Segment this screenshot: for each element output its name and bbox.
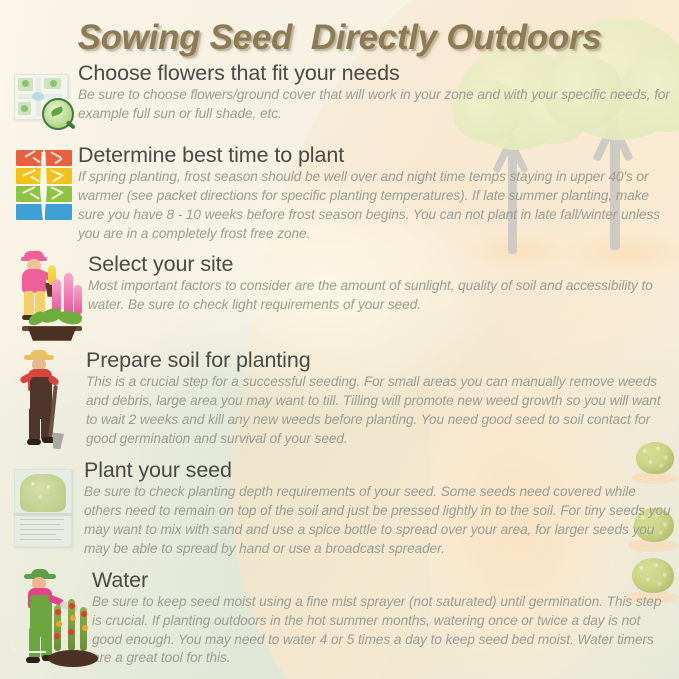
step-text: Prepare soil for planting This is a cruc… (86, 349, 671, 449)
step-text: Water Be sure to keep seed moist using a… (92, 569, 671, 669)
step-heading: Prepare soil for planting (86, 349, 671, 372)
step-text: Choose flowers that fit your needs Be su… (78, 62, 671, 124)
step-text: Determine best time to plant If spring p… (78, 144, 671, 244)
gardener-with-shovel-icon (10, 349, 84, 449)
step-item: Water Be sure to keep seed moist using a… (0, 569, 679, 669)
step-body: Most important factors to consider are t… (88, 277, 671, 315)
step-text: Select your site Most important factors … (88, 253, 671, 315)
step-heading: Choose flowers that fit your needs (78, 62, 671, 85)
step-text: Plant your seed Be sure to check plantin… (84, 459, 671, 559)
gardener-watering-icon (10, 569, 90, 669)
gardener-with-planter-icon (10, 249, 86, 341)
infographic-poster: Sowing Seed Directly Outdoors (0, 0, 679, 679)
step-heading: Determine best time to plant (78, 144, 671, 167)
step-body: Be sure to keep seed moist using a fine … (92, 593, 671, 669)
seed-packet-icon (10, 461, 82, 557)
step-item: Select your site Most important factors … (0, 253, 679, 341)
step-body: Be sure to choose flowers/ground cover t… (78, 86, 671, 124)
steps-list: Choose flowers that fit your needs Be su… (0, 62, 679, 669)
step-heading: Plant your seed (84, 459, 671, 482)
step-item: Determine best time to plant If spring p… (0, 144, 679, 244)
step-heading: Select your site (88, 253, 671, 276)
garden-plan-magnifier-icon (10, 68, 76, 134)
page-title: Sowing Seed Directly Outdoors (0, 18, 679, 58)
step-item: Plant your seed Be sure to check plantin… (0, 459, 679, 559)
step-body: Be sure to check planting depth requirem… (84, 483, 671, 559)
step-item: Choose flowers that fit your needs Be su… (0, 62, 679, 134)
step-heading: Water (92, 569, 671, 592)
four-seasons-icon (14, 148, 76, 224)
step-body: This is a crucial step for a successful … (86, 373, 671, 449)
step-item: Prepare soil for planting This is a cruc… (0, 349, 679, 449)
step-body: If spring planting, frost season should … (78, 168, 671, 244)
